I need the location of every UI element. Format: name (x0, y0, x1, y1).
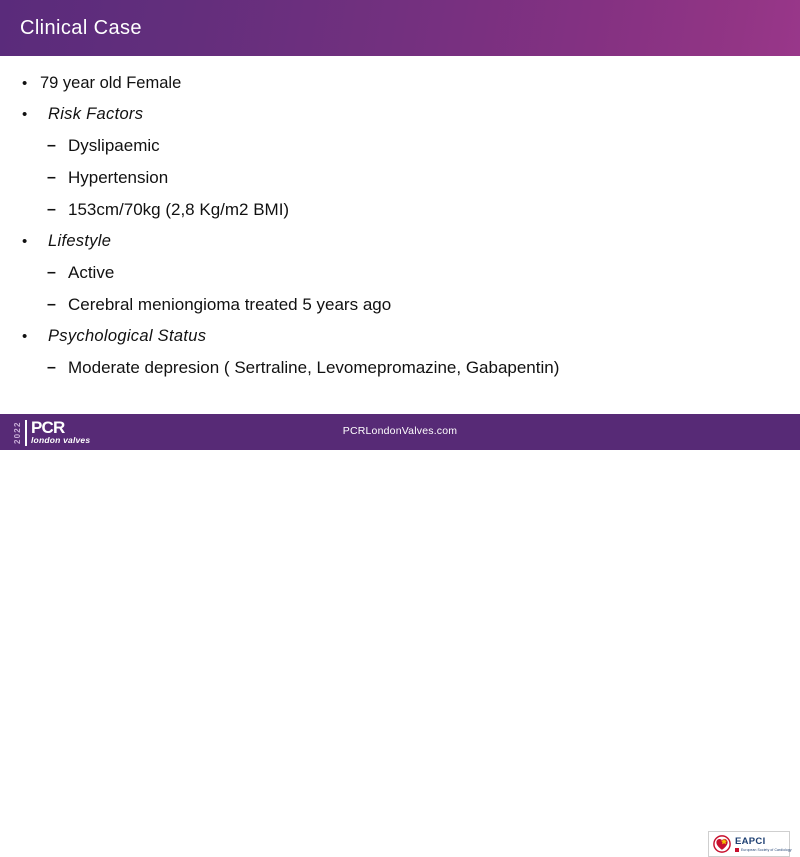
list-item: – Moderate depresion ( Sertraline, Levom… (18, 352, 784, 384)
list-item: – Active (18, 257, 784, 289)
list-item-label: Active (68, 263, 114, 282)
bullet-marker-icon: • (22, 99, 36, 130)
slide-root: Clinical Case • 79 year old Female • Ris… (0, 0, 800, 450)
list-item-label: 153cm/70kg (2,8 Kg/m2 BMI) (68, 200, 289, 219)
dash-marker-icon: – (47, 352, 63, 384)
list-item: – 153cm/70kg (2,8 Kg/m2 BMI) (18, 194, 784, 226)
eapci-logo: EAPCI European Society of Cardiology (708, 831, 790, 857)
list-item-label: Cerebral meniongioma treated 5 years ago (68, 295, 391, 314)
eapci-society-label: European Society of Cardiology (741, 848, 792, 852)
list-item-label: 79 year old Female (40, 74, 181, 92)
list-item: • 79 year old Female (18, 68, 784, 99)
list-item-label: Hypertension (68, 168, 168, 187)
list-item: • Lifestyle (18, 226, 784, 257)
list-item-label: Lifestyle (40, 232, 111, 250)
list-item-label: Moderate depresion ( Sertraline, Levomep… (68, 358, 559, 377)
list-item-label: Risk Factors (40, 105, 143, 123)
dash-marker-icon: – (47, 130, 63, 162)
slide-body: • 79 year old Female • Risk Factors – Dy… (0, 56, 800, 414)
heart-icon (713, 835, 731, 853)
list-item-label: Dyslipaemic (68, 136, 160, 155)
bullet-list: • 79 year old Female • Risk Factors – Dy… (18, 68, 784, 384)
list-item: • Risk Factors (18, 99, 784, 130)
eapci-logo-text: EAPCI European Society of Cardiology (735, 837, 792, 852)
footer-website-url: PCRLondonValves.com (0, 425, 800, 437)
slide-title-bar: Clinical Case (0, 0, 800, 56)
eapci-name: EAPCI (735, 837, 792, 847)
list-item: – Hypertension (18, 162, 784, 194)
bullet-marker-icon: • (22, 321, 36, 352)
eapci-society-line: European Society of Cardiology (735, 848, 792, 852)
esc-square-icon (735, 848, 739, 852)
dash-marker-icon: – (47, 289, 63, 321)
list-item: • Psychological Status (18, 321, 784, 352)
dash-marker-icon: – (47, 257, 63, 289)
dash-marker-icon: – (47, 162, 63, 194)
bullet-marker-icon: • (22, 68, 36, 99)
dash-marker-icon: – (47, 194, 63, 226)
page-title: Clinical Case (20, 17, 142, 40)
bullet-marker-icon: • (22, 226, 36, 257)
list-item: – Cerebral meniongioma treated 5 years a… (18, 289, 784, 321)
list-item: – Dyslipaemic (18, 130, 784, 162)
slide-footer: 2022 PCR london valves PCRLondonValves.c… (0, 414, 800, 450)
list-item-label: Psychological Status (40, 327, 206, 345)
